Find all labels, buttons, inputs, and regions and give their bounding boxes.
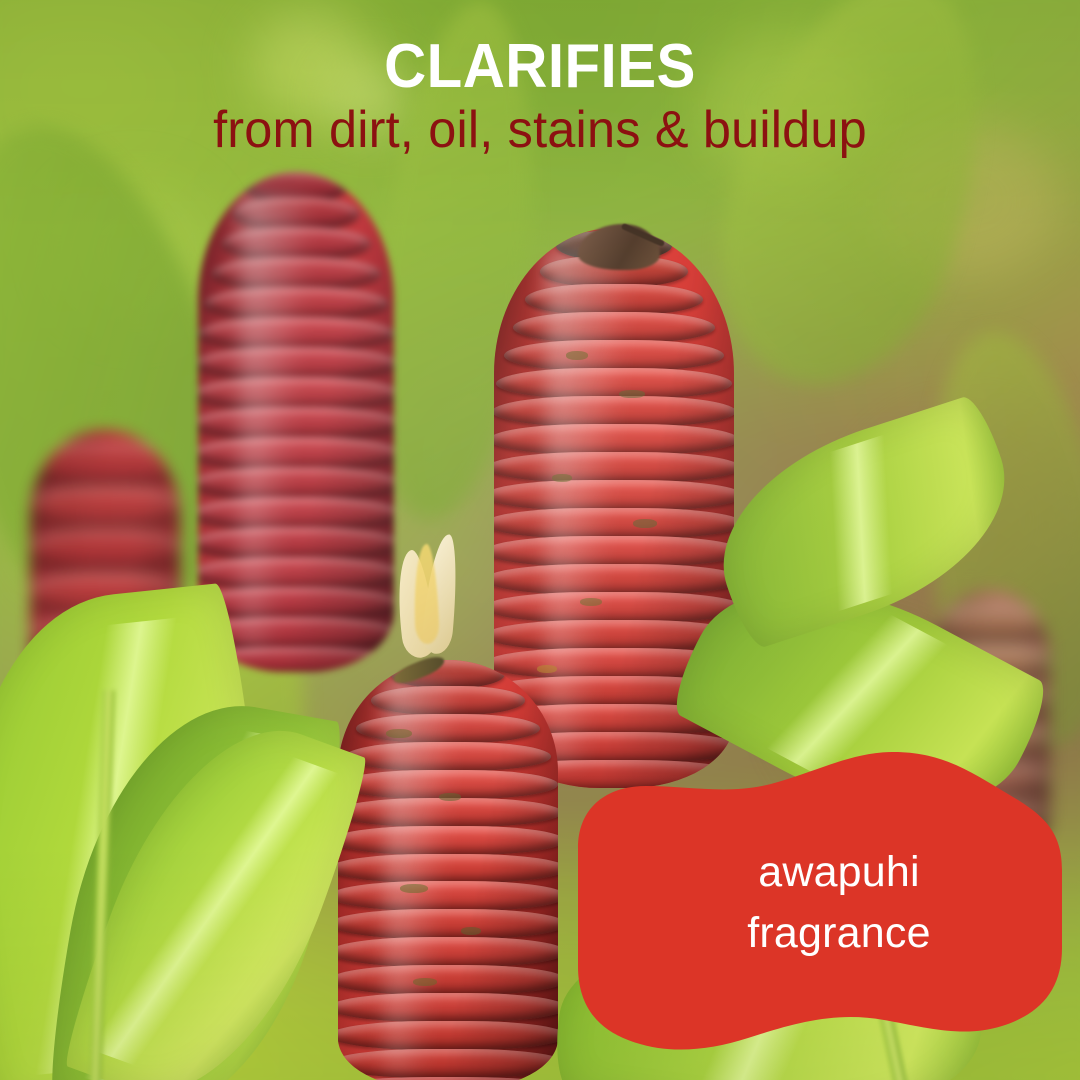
cone-debris bbox=[552, 474, 572, 482]
ginger-bloom bbox=[396, 528, 466, 658]
ginger-cone-front bbox=[338, 660, 558, 1080]
page-subtitle: from dirt, oil, stains & buildup bbox=[16, 104, 1064, 156]
cone-debris bbox=[633, 519, 657, 528]
badge-line-1: awapuhi bbox=[758, 842, 920, 903]
cone-debris bbox=[461, 927, 481, 935]
cone-debris bbox=[580, 598, 602, 606]
badge-line-2: fragrance bbox=[747, 903, 930, 964]
cone-debris bbox=[386, 729, 412, 738]
cone-debris bbox=[413, 978, 437, 986]
cone-debris bbox=[566, 351, 588, 360]
cone-debris bbox=[400, 884, 428, 893]
fragrance-badge[interactable]: awapuhi fragrance bbox=[572, 752, 1066, 1054]
headline-block: CLARIFIES from dirt, oil, stains & build… bbox=[0, 36, 1080, 156]
badge-label: awapuhi fragrance bbox=[572, 752, 1066, 1054]
poster-canvas: CLARIFIES from dirt, oil, stains & build… bbox=[0, 0, 1080, 1080]
page-title: CLARIFIES bbox=[32, 36, 1047, 98]
